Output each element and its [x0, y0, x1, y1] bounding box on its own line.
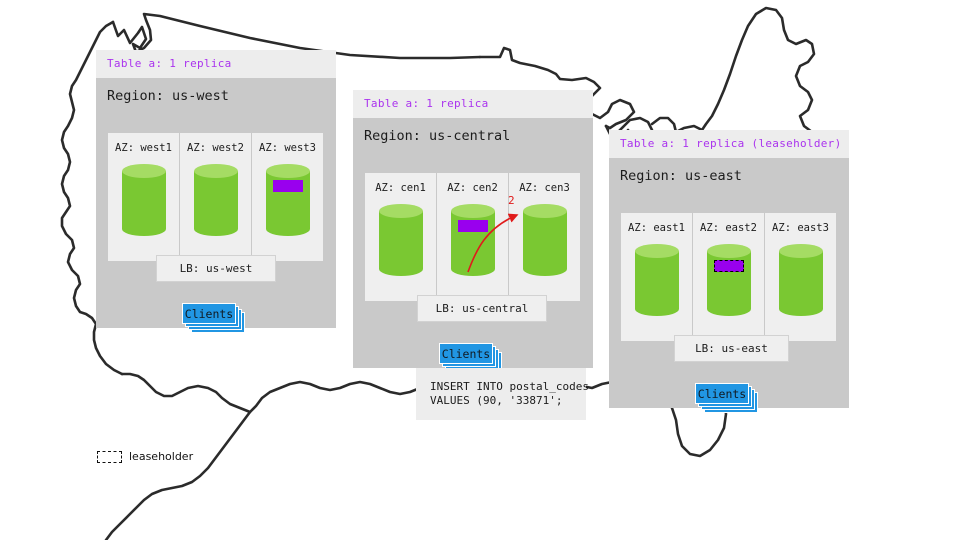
replica-marker-east2-leaseholder[interactable]: [714, 260, 744, 272]
cylinder-body: [635, 251, 679, 309]
az-container-us-central: AZ: cen1 AZ: cen2: [365, 173, 580, 301]
region-header-label-us-west: Table a: 1 replica: [96, 50, 336, 78]
az-cell-cen1[interactable]: AZ: cen1: [365, 173, 437, 301]
cylinder-top: [194, 164, 238, 178]
cylinder-bottom: [379, 262, 423, 276]
region-panel-us-east: Table a: 1 replica (leaseholder) Region:…: [609, 130, 849, 408]
cylinder-body: [779, 251, 823, 309]
cylinder-top: [779, 244, 823, 258]
load-balancer-us-central[interactable]: LB: us-central: [417, 295, 547, 322]
cylinder-body: [122, 171, 166, 229]
region-title-us-central: Region: us-central: [353, 118, 593, 153]
cylinder-body: [523, 211, 567, 269]
sql-statement-box: INSERT INTO postal_codes VALUES (90, '33…: [416, 368, 586, 420]
region-body-us-west: Region: us-west AZ: west1 AZ: west2: [96, 78, 336, 328]
az-label-cen2: AZ: cen2: [447, 182, 498, 194]
cylinder-bottom: [122, 222, 166, 236]
az-label-east3: AZ: east3: [772, 222, 829, 234]
load-balancer-us-west[interactable]: LB: us-west: [156, 255, 276, 282]
load-balancer-us-east[interactable]: LB: us-east: [674, 335, 789, 362]
cylinder-bottom: [194, 222, 238, 236]
node-cylinder-east3[interactable]: [779, 244, 823, 316]
az-container-us-west: AZ: west1 AZ: west2: [108, 133, 323, 261]
cylinder-top: [122, 164, 166, 178]
replica-marker-cen2[interactable]: [458, 220, 488, 232]
cylinder-body: [194, 171, 238, 229]
az-cell-cen2[interactable]: AZ: cen2: [437, 173, 509, 301]
node-cylinder-east2[interactable]: [707, 244, 751, 316]
cylinder-top: [266, 164, 310, 178]
region-title-us-west: Region: us-west: [96, 78, 336, 113]
az-label-cen3: AZ: cen3: [519, 182, 570, 194]
cylinder-top: [707, 244, 751, 258]
region-header-label-us-central: Table a: 1 replica: [353, 90, 593, 118]
node-cylinder-cen2[interactable]: [451, 204, 495, 276]
az-label-west1: AZ: west1: [115, 142, 172, 154]
diagram-canvas: Table a: 1 replica Region: us-west AZ: w…: [0, 0, 960, 540]
az-label-west2: AZ: west2: [187, 142, 244, 154]
az-label-cen1: AZ: cen1: [375, 182, 426, 194]
az-cell-east3[interactable]: AZ: east3: [765, 213, 836, 341]
replication-arrow-label: 2: [508, 194, 515, 207]
az-cell-cen3[interactable]: AZ: cen3: [509, 173, 580, 301]
cylinder-bottom: [635, 302, 679, 316]
node-cylinder-west3[interactable]: [266, 164, 310, 236]
cylinder-bottom: [451, 262, 495, 276]
cylinder-top: [635, 244, 679, 258]
region-body-us-central: Region: us-central AZ: cen1 AZ: cen2: [353, 118, 593, 368]
legend-label: leaseholder: [129, 450, 193, 463]
region-title-us-east: Region: us-east: [609, 158, 849, 193]
cylinder-top: [523, 204, 567, 218]
clients-stack-us-west[interactable]: Clients: [182, 303, 252, 337]
clients-button-us-central[interactable]: Clients: [439, 343, 493, 364]
leaseholder-swatch-icon: [97, 451, 122, 463]
node-cylinder-cen3[interactable]: [523, 204, 567, 276]
az-container-us-east: AZ: east1 AZ: east2: [621, 213, 836, 341]
az-cell-east2[interactable]: AZ: east2: [693, 213, 765, 341]
cylinder-bottom: [707, 302, 751, 316]
az-label-east2: AZ: east2: [700, 222, 757, 234]
node-cylinder-west1[interactable]: [122, 164, 166, 236]
node-cylinder-east1[interactable]: [635, 244, 679, 316]
node-cylinder-cen1[interactable]: [379, 204, 423, 276]
az-cell-west3[interactable]: AZ: west3: [252, 133, 323, 261]
cylinder-top: [451, 204, 495, 218]
cylinder-top: [379, 204, 423, 218]
cylinder-bottom: [266, 222, 310, 236]
region-panel-us-west: Table a: 1 replica Region: us-west AZ: w…: [96, 50, 336, 328]
replica-marker-west3[interactable]: [273, 180, 303, 192]
region-header-label-us-east: Table a: 1 replica (leaseholder): [609, 130, 849, 158]
region-body-us-east: Region: us-east AZ: east1 AZ: east2: [609, 158, 849, 408]
az-cell-west1[interactable]: AZ: west1: [108, 133, 180, 261]
cylinder-bottom: [523, 262, 567, 276]
clients-button-us-west[interactable]: Clients: [182, 303, 236, 324]
az-label-west3: AZ: west3: [259, 142, 316, 154]
az-cell-west2[interactable]: AZ: west2: [180, 133, 252, 261]
legend: leaseholder: [97, 450, 193, 463]
cylinder-bottom: [779, 302, 823, 316]
clients-stack-us-east[interactable]: Clients: [695, 383, 765, 417]
region-panel-us-central: Table a: 1 replica Region: us-central AZ…: [353, 90, 593, 368]
az-label-east1: AZ: east1: [628, 222, 685, 234]
node-cylinder-west2[interactable]: [194, 164, 238, 236]
clients-button-us-east[interactable]: Clients: [695, 383, 749, 404]
cylinder-body: [379, 211, 423, 269]
az-cell-east1[interactable]: AZ: east1: [621, 213, 693, 341]
